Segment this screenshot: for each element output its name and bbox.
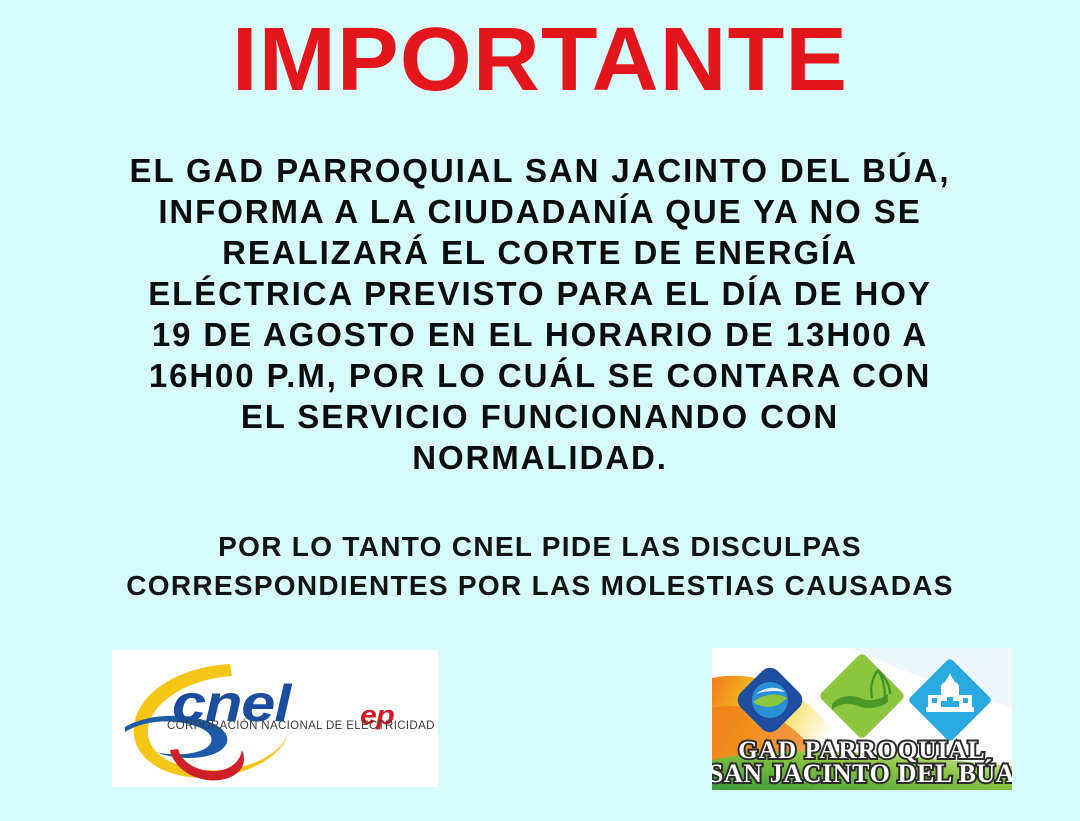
announcement-body: EL GAD PARROQUIAL SAN JACINTO DEL BÚA, I…: [0, 150, 1080, 478]
announcement-line: EL GAD PARROQUIAL SAN JACINTO DEL BÚA,: [0, 150, 1080, 191]
announcement-line: 19 DE AGOSTO EN EL HORARIO DE 13H00 A: [0, 314, 1080, 355]
announcement-line: 16H00 P.M, POR LO CUÁL SE CONTARA CON: [0, 355, 1080, 396]
cnel-logo: cnel ep CORPORACIÓN NACIONAL DE ELECTRIC…: [112, 650, 438, 787]
cnel-tagline: CORPORACIÓN NACIONAL DE ELECTRICIDAD: [167, 720, 435, 733]
announcement-line: EL SERVICIO FUNCIONANDO CON: [0, 396, 1080, 437]
gad-emblem-icon: GAD PARROQUIAL SAN JACINTO DEL BÚA: [712, 648, 1012, 790]
apology-line: CORRESPONDIENTES POR LAS MOLESTIAS CAUSA…: [0, 566, 1080, 605]
page-title: IMPORTANTE: [0, 8, 1080, 112]
announcement-line: REALIZARÁ EL CORTE DE ENERGÍA: [0, 232, 1080, 273]
apology-note: POR LO TANTO CNEL PIDE LAS DISCULPAS COR…: [0, 527, 1080, 605]
announcement-line: INFORMA A LA CIUDADANÍA QUE YA NO SE: [0, 191, 1080, 232]
announcement-line: ELÉCTRICA PREVISTO PARA EL DÍA DE HOY: [0, 273, 1080, 314]
announcement-poster: IMPORTANTE EL GAD PARROQUIAL SAN JACINTO…: [0, 0, 1080, 821]
announcement-line: NORMALIDAD.: [0, 437, 1080, 478]
gad-parroquial-logo: GAD PARROQUIAL SAN JACINTO DEL BÚA: [712, 648, 1012, 790]
apology-line: POR LO TANTO CNEL PIDE LAS DISCULPAS: [0, 527, 1080, 566]
gad-logo-line2-text: SAN JACINTO DEL BÚA: [712, 759, 1012, 788]
